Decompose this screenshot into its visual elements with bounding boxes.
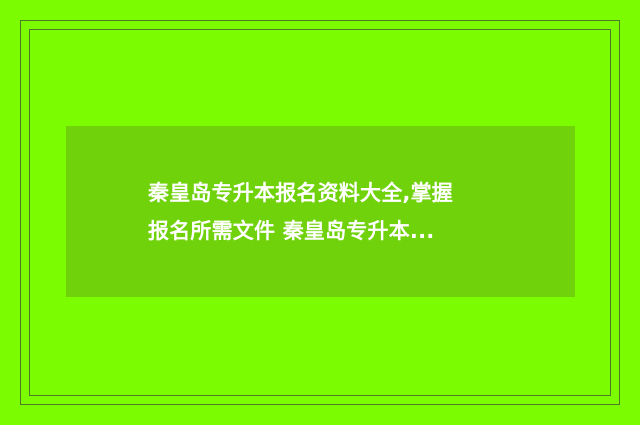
article-content-card: 秦皇岛专升本报名资料大全,掌握 报名所需文件 秦皇岛专升本... (66, 126, 575, 297)
headline-block: 秦皇岛专升本报名资料大全,掌握 报名所需文件 秦皇岛专升本... (66, 174, 453, 250)
headline-line-2: 报名所需文件 秦皇岛专升本... (148, 212, 453, 250)
headline-line-1: 秦皇岛专升本报名资料大全,掌握 (148, 174, 453, 212)
page-canvas: 秦皇岛专升本报名资料大全,掌握 报名所需文件 秦皇岛专升本... (0, 0, 640, 425)
